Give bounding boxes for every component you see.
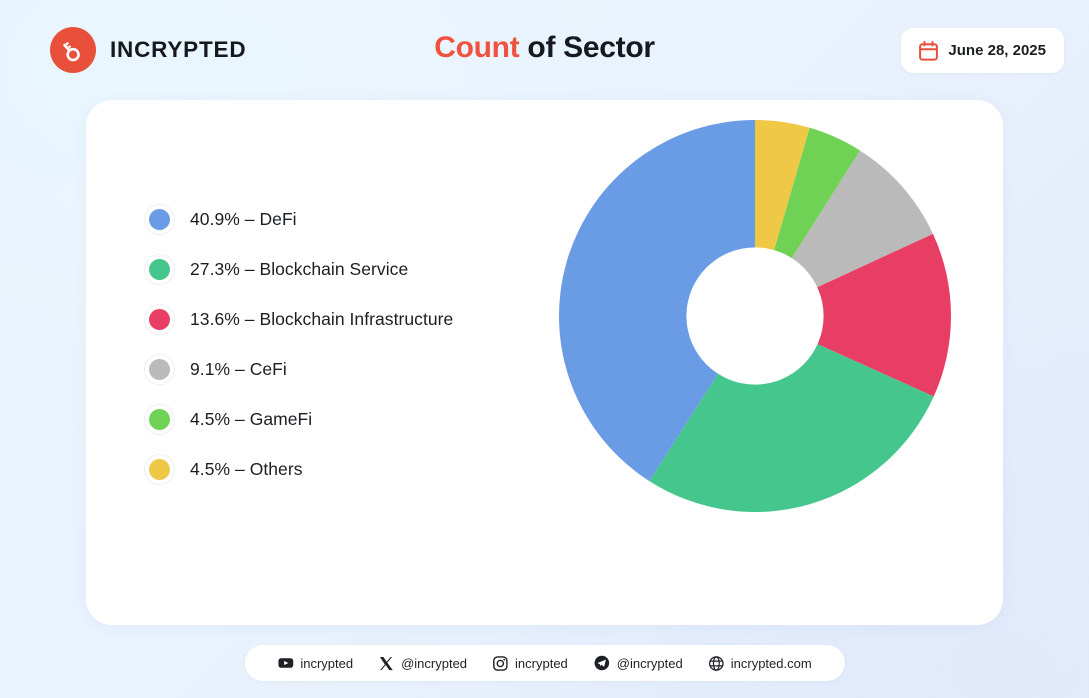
- social-text: @incrypted: [401, 656, 467, 671]
- date-badge[interactable]: June 28, 2025: [901, 28, 1064, 73]
- legend-swatch-blockchain-service: [144, 254, 175, 285]
- chart-card: 40.9% – DeFi 27.3% – Blockchain Service …: [86, 100, 1003, 625]
- legend-label: 13.6% – Blockchain Infrastructure: [190, 309, 453, 330]
- instagram-icon: [493, 656, 508, 671]
- social-text: incrypted.com: [731, 656, 812, 671]
- legend-swatch-cefi: [144, 354, 175, 385]
- legend-label: 4.5% – Others: [190, 459, 303, 480]
- page-title-accent: Count: [434, 31, 519, 64]
- list-item[interactable]: 40.9% – DeFi: [144, 204, 453, 235]
- social-footer: incrypted @incrypted incrypted @incrypte…: [244, 645, 844, 681]
- list-item[interactable]: 4.5% – Others: [144, 454, 453, 485]
- social-link-instagram[interactable]: incrypted: [480, 656, 581, 671]
- page-header: INCRYPTED Count of Sector June 28, 2025: [0, 0, 1089, 100]
- social-text: @incrypted: [617, 656, 683, 671]
- donut-hole: [686, 247, 823, 384]
- legend-label: 4.5% – GameFi: [190, 409, 312, 430]
- social-link-website[interactable]: incrypted.com: [696, 656, 825, 671]
- legend-label: 27.3% – Blockchain Service: [190, 259, 408, 280]
- chart-legend: 40.9% – DeFi 27.3% – Blockchain Service …: [144, 204, 453, 485]
- donut-chart-svg: [545, 106, 965, 526]
- social-link-youtube[interactable]: incrypted: [264, 655, 366, 671]
- globe-icon: [709, 656, 724, 671]
- legend-label: 9.1% – CeFi: [190, 359, 287, 380]
- legend-swatch-gamefi: [144, 404, 175, 435]
- social-text: incrypted: [515, 656, 568, 671]
- youtube-icon: [277, 655, 293, 671]
- social-text: incrypted: [300, 656, 353, 671]
- list-item[interactable]: 9.1% – CeFi: [144, 354, 453, 385]
- page-title-rest: of Sector: [519, 31, 654, 64]
- calendar-icon: [919, 41, 938, 61]
- legend-label: 40.9% – DeFi: [190, 209, 297, 230]
- legend-swatch-others: [144, 454, 175, 485]
- x-twitter-icon: [379, 656, 394, 671]
- list-item[interactable]: 4.5% – GameFi: [144, 404, 453, 435]
- list-item[interactable]: 13.6% – Blockchain Infrastructure: [144, 304, 453, 335]
- legend-swatch-defi: [144, 204, 175, 235]
- social-link-telegram[interactable]: @incrypted: [581, 655, 696, 671]
- social-link-x[interactable]: @incrypted: [366, 656, 480, 671]
- legend-swatch-blockchain-infrastructure: [144, 304, 175, 335]
- telegram-icon: [594, 655, 610, 671]
- donut-chart: [545, 106, 965, 526]
- date-text: June 28, 2025: [948, 42, 1046, 59]
- list-item[interactable]: 27.3% – Blockchain Service: [144, 254, 453, 285]
